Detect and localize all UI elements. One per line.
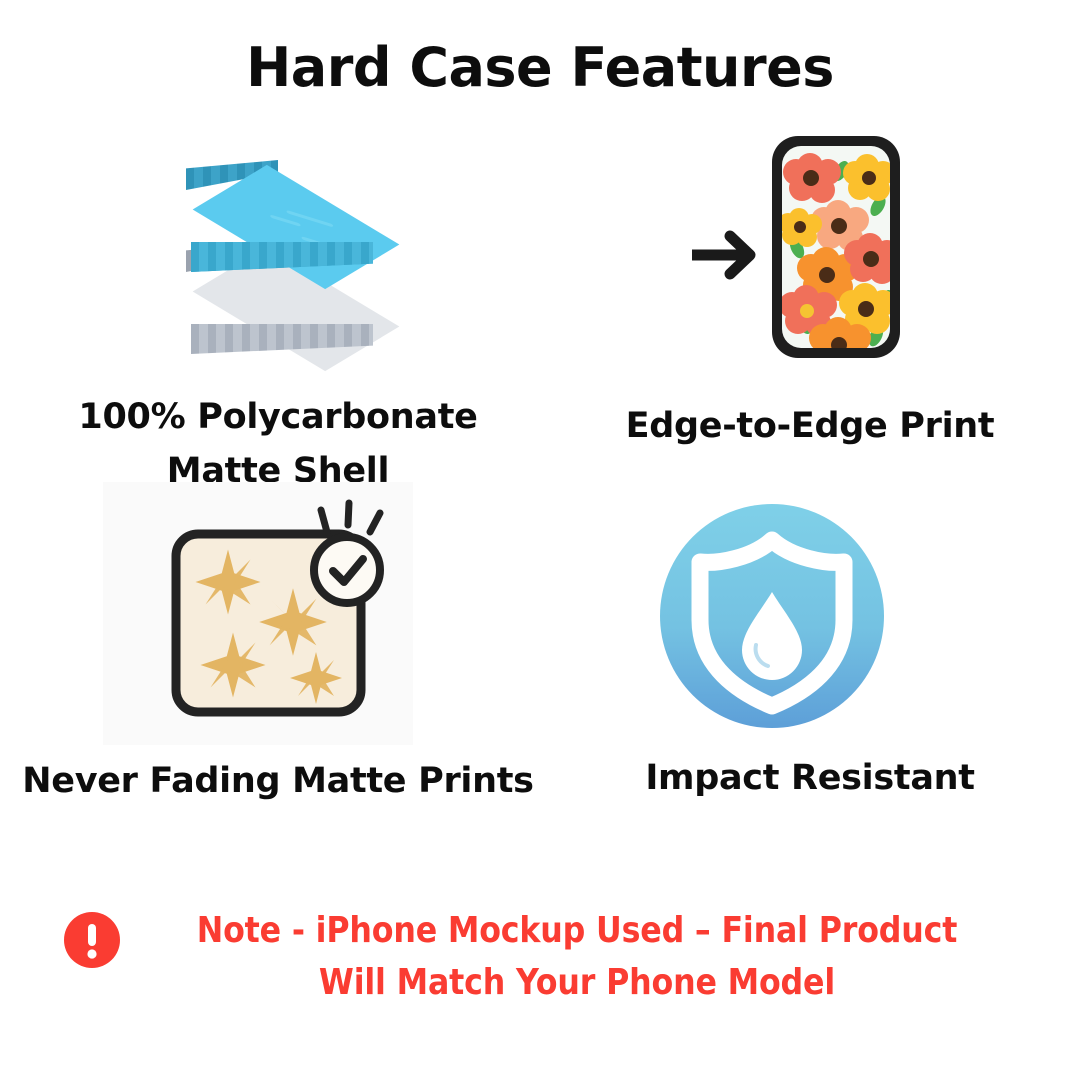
sparkle-check-icon — [18, 482, 538, 745]
badge-rays — [321, 503, 380, 532]
feature-polycarbonate: 100% Polycarbonate Matte Shell — [18, 150, 538, 498]
flower-red-1 — [783, 153, 841, 203]
feature-never-fading: Never Fading Matte Prints — [18, 482, 538, 809]
floral-phone-case-icon — [560, 128, 1060, 378]
check-circle-icon — [314, 537, 380, 603]
page-title: Hard Case Features — [0, 36, 1080, 99]
top-layer-slab — [186, 160, 278, 190]
feature-label-impact: Impact Resistant — [560, 752, 1060, 806]
note-block: Note - iPhone Mockup Used – Final Produc… — [0, 905, 1080, 1009]
feature-label-edge-print: Edge-to-Edge Print — [560, 400, 1060, 454]
feature-label-never-fading: Never Fading Matte Prints — [18, 755, 538, 809]
exclamation-circle-icon — [63, 911, 121, 969]
hard-case-features-infographic: Hard Case Features 100% Polycarbonate — [0, 0, 1080, 1080]
note-text: Note - iPhone Mockup Used – Final Produc… — [190, 905, 964, 1009]
flower-orange-2 — [809, 317, 871, 371]
stacked-layers-icon — [18, 150, 538, 365]
feature-impact: Impact Resistant — [560, 500, 1060, 806]
feature-edge-print: Edge-to-Edge Print — [560, 128, 1060, 454]
arrow-right-icon — [692, 236, 750, 274]
shield-droplet-icon — [560, 500, 1060, 740]
